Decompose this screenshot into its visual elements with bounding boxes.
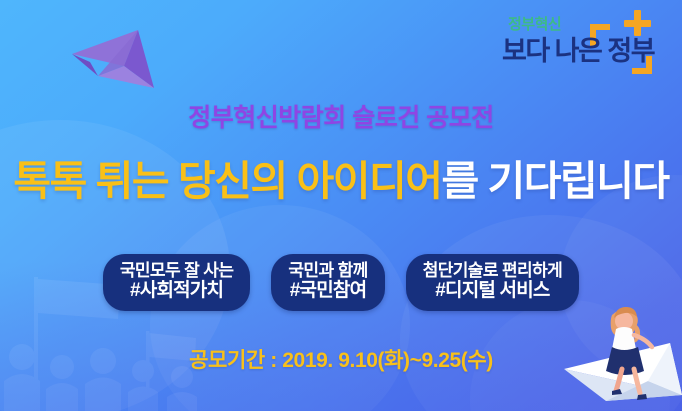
- headline-plain-text: 를 기다립니다: [441, 158, 668, 204]
- headline-accent-text: 톡톡 튀는 당신의 아이디어: [13, 158, 441, 204]
- keyword-badge: 국민모두 잘 사는 #사회적가치: [103, 254, 251, 311]
- badge-title: 국민과 함께: [288, 261, 367, 280]
- page-subtitle: 정부혁신박람회 슬로건 공모전: [0, 98, 682, 134]
- badge-hashtag: #사회적가치: [120, 280, 234, 302]
- paper-plane-icon: [68, 26, 164, 94]
- plus-icon: [624, 10, 651, 36]
- badge-hashtag: #디지털 서비스: [423, 280, 562, 302]
- page-headline: 톡톡 튀는 당신의 아이디어를 기다립니다: [0, 147, 682, 207]
- keyword-badge: 국민과 함께 #국민참여: [271, 254, 384, 311]
- keyword-badge: 첨단기술로 편리하게 #디지털 서비스: [406, 254, 579, 311]
- person-on-paper-plane-illustration: [562, 295, 682, 411]
- logo-main-text: 보다 나은 정부: [502, 36, 655, 66]
- logo-top-text: 정부혁신: [508, 15, 561, 33]
- badge-title: 첨단기술로 편리하게: [423, 261, 562, 280]
- badge-hashtag: #국민참여: [288, 280, 367, 302]
- promo-banner: 정부혁신 보다 나은 정부 정부혁신박람회 슬로건 공모전 톡톡 튀는 당신의 …: [0, 0, 682, 411]
- badge-title: 국민모두 잘 사는: [120, 261, 234, 280]
- government-innovation-logo: 정부혁신 보다 나은 정부: [494, 8, 664, 82]
